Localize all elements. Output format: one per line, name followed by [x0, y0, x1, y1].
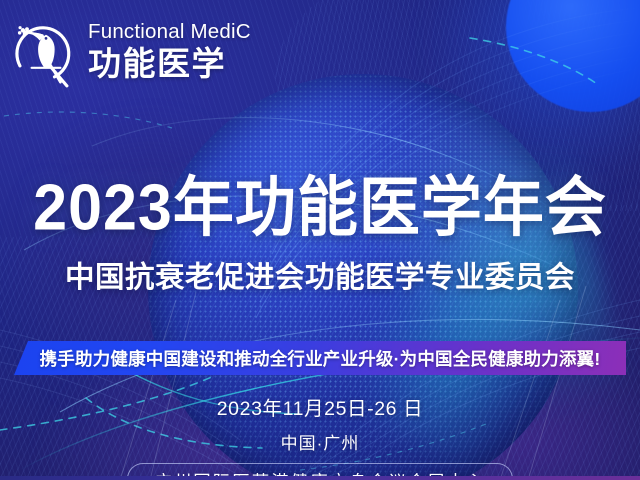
brand-logo-text: Functional MediC 功能医学 — [88, 22, 251, 83]
bird-in-circle-logo-icon — [10, 16, 82, 88]
page-title: 2023年功能医学年会 — [0, 174, 640, 240]
slogan-banner: 携手助力健康中国建设和推动全行业产业升级·为中国全民健康助力添翼! — [14, 341, 626, 375]
event-city: 中国·广州 — [0, 429, 640, 454]
page-subtitle: 中国抗衰老促进会功能医学专业委员会 — [0, 254, 640, 296]
brand-logo: Functional MediC 功能医学 — [10, 16, 251, 88]
title-block: 2023年功能医学年会 中国抗衰老促进会功能医学专业委员会 — [0, 176, 640, 296]
brand-name-chinese: 功能医学 — [88, 47, 251, 80]
conference-poster: Functional MediC 功能医学 2023年功能医学年会 中国抗衰老促… — [0, 0, 640, 480]
slogan-text: 携手助力健康中国建设和推动全行业产业升级·为中国全民健康助力添翼! — [40, 346, 601, 371]
event-date: 2023年11月25日-26 日 — [0, 392, 640, 421]
event-info: 2023年11月25日-26 日 中国·广州 广州国际医药港健康方舟会议会展中心 — [0, 392, 640, 480]
brand-name-english: Functional MediC — [88, 22, 251, 43]
bottom-edge-strip — [0, 476, 640, 480]
